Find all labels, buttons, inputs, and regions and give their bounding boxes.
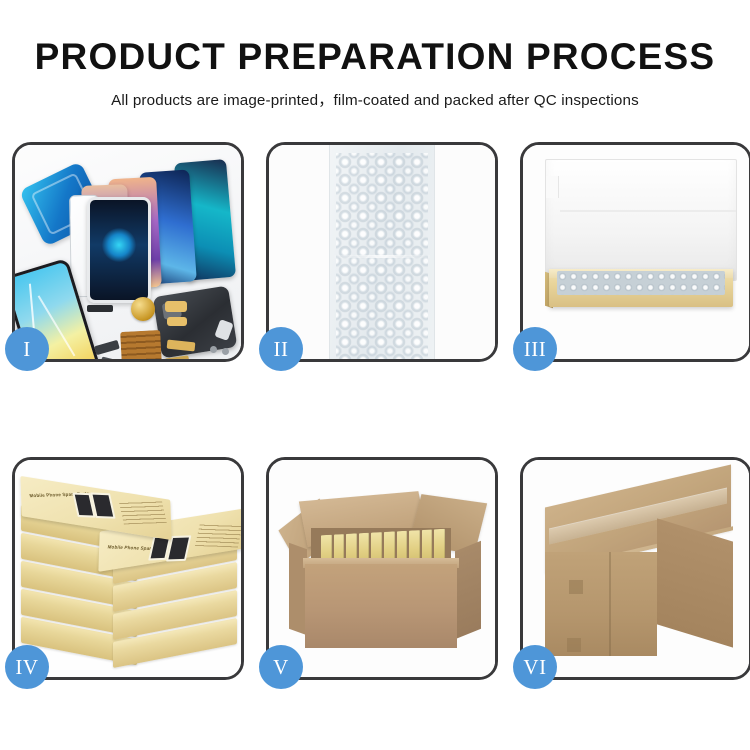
screw-icon <box>210 346 217 353</box>
step-image-3 <box>523 145 749 359</box>
step-panel-6: VI <box>520 457 750 680</box>
step-panel-1: I <box>12 142 244 362</box>
small-part-icon <box>100 356 123 359</box>
step-panel-2: II <box>266 142 498 362</box>
page-title: PRODUCT PREPARATION PROCESS <box>0 0 750 75</box>
box-stack: Mobile Phone Spare Parts Mobile Phone Sp… <box>21 474 237 670</box>
step-badge-3: III <box>513 327 557 371</box>
step-image-1 <box>15 145 241 359</box>
step-panel-4: Mobile Phone Spare Parts Mobile Phone Sp… <box>12 457 244 680</box>
carton-side-right <box>455 541 481 640</box>
carton-notch <box>569 580 583 594</box>
carton-side-right <box>657 518 733 647</box>
small-part-icon <box>165 301 187 312</box>
step-badge-6: VI <box>513 645 557 689</box>
steps-grid: I II <box>12 142 738 680</box>
copper-coil-icon <box>131 297 155 321</box>
box-lid <box>545 159 737 281</box>
small-part-icon <box>94 340 120 355</box>
inner-box-photo <box>523 145 749 359</box>
stacked-boxes-photo: Mobile Phone Spare Parts Mobile Phone Sp… <box>15 460 241 677</box>
step-image-4: Mobile Phone Spare Parts Mobile Phone Sp… <box>15 460 241 677</box>
product-preparation-infographic: PRODUCT PREPARATION PROCESS All products… <box>0 0 750 750</box>
step-panel-5: V <box>266 457 498 680</box>
step-panel-3: III <box>520 142 750 362</box>
carton-seam <box>609 552 611 656</box>
phone-parts-photo <box>15 145 241 359</box>
bubble-wrap-photo <box>269 145 495 359</box>
small-part-icon <box>87 305 113 312</box>
phone-display-icon <box>87 197 151 303</box>
carton-notch <box>567 638 581 652</box>
box-spec-lines <box>195 524 241 548</box>
chip-grid-icon <box>120 330 162 359</box>
sealed-carton-photo <box>523 460 749 677</box>
step-badge-2: II <box>259 327 303 371</box>
bubble-wrap-pouch <box>329 145 435 359</box>
carton-front <box>545 552 657 656</box>
step-badge-4: IV <box>5 645 49 689</box>
pouch-seam <box>334 255 430 258</box>
step-badge-1: I <box>5 327 49 371</box>
carton-front <box>305 564 457 648</box>
box-spec-lines <box>119 500 167 524</box>
page-subtitle: All products are image-printed，film-coat… <box>0 75 750 108</box>
header: PRODUCT PREPARATION PROCESS All products… <box>0 0 750 108</box>
small-part-icon <box>167 317 187 326</box>
screw-icon <box>222 348 229 355</box>
bubble-wrap-inside-box <box>557 271 725 295</box>
step-image-5 <box>269 460 495 677</box>
step-image-6 <box>523 460 749 677</box>
lid-fold-line <box>560 210 736 212</box>
carton-packing-photo <box>269 460 495 677</box>
step-image-2 <box>269 145 495 359</box>
step-badge-5: V <box>259 645 303 689</box>
